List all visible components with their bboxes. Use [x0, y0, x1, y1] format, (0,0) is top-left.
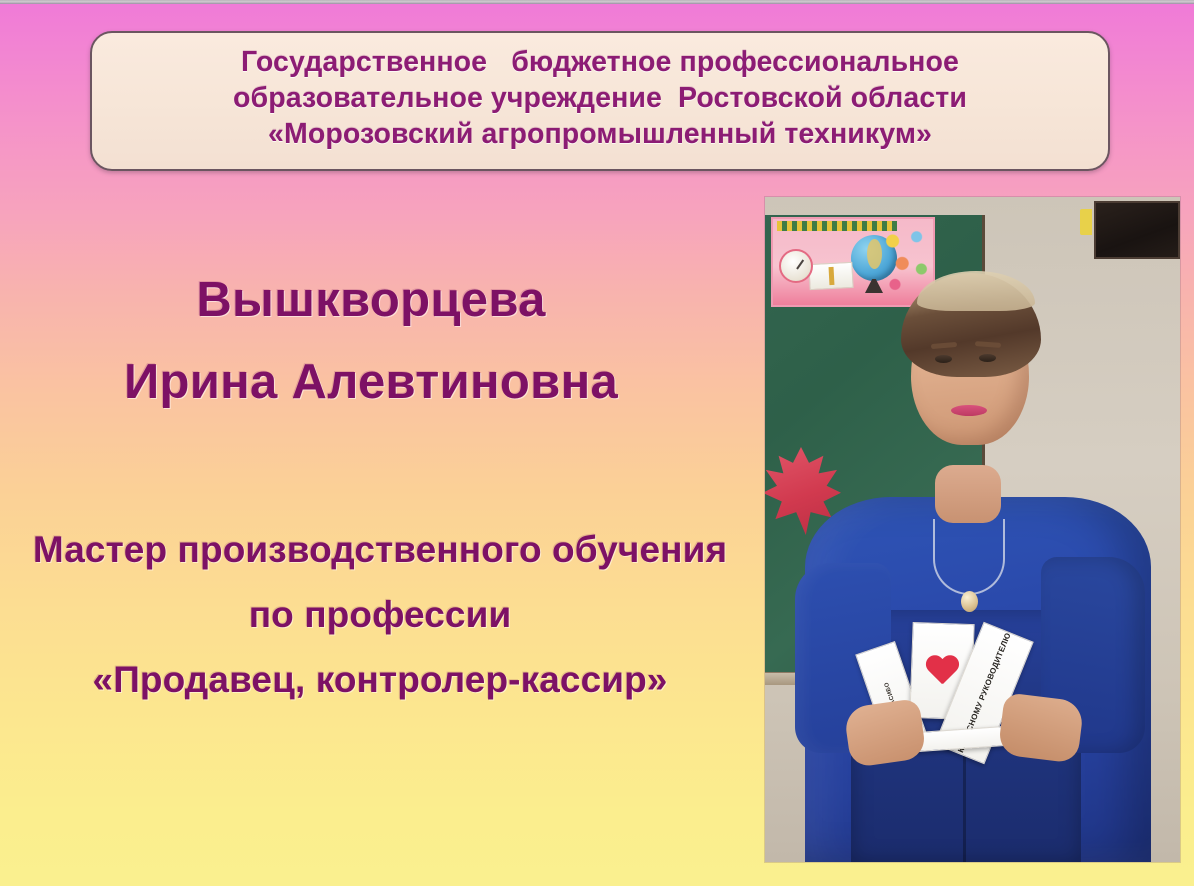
institution-title-line-2: образовательное учреждение Ростовской об…	[233, 81, 967, 117]
wall-monitor	[1094, 201, 1180, 259]
person-lips	[951, 405, 987, 416]
institution-title-line-1: Государственное бюджетное профессиональн…	[241, 45, 959, 81]
person-eye-left	[935, 355, 952, 363]
role-line-3: «Продавец, контролер-кассир»	[0, 660, 760, 699]
person-surname: Вышкворцева	[0, 276, 742, 326]
book-icon	[808, 262, 853, 290]
institution-title-box: Государственное бюджетное профессиональн…	[90, 31, 1110, 171]
yellow-wall-object	[1080, 209, 1092, 235]
necklace-pendant	[961, 591, 978, 612]
person-hand-right	[998, 692, 1085, 763]
person-given-name-patronymic: Ирина Алевтиновна	[0, 358, 742, 408]
person-neck	[935, 465, 1001, 523]
poster-ribbon	[777, 221, 897, 231]
presentation-slide: Государственное бюджетное профессиональн…	[0, 0, 1194, 886]
role-line-2: по профессии	[0, 595, 760, 634]
alarm-clock-icon	[779, 249, 813, 283]
person-role-block: Мастер производственного обучения по про…	[0, 530, 760, 700]
necklace-chain	[933, 519, 1005, 595]
globe-stand-icon	[865, 279, 883, 293]
school-poster	[771, 217, 935, 307]
person-photo: СПАСИБО КЛАССНОМУ РУКОВОДИТЕЛЮ	[765, 197, 1180, 862]
institution-title-line-3: «Морозовский агропромышленный техникум»	[268, 117, 932, 153]
role-line-1: Мастер производственного обучения	[0, 530, 760, 569]
heart-icon	[925, 656, 959, 687]
person-eye-right	[979, 354, 996, 362]
person-name-block: Вышкворцева Ирина Алевтиновна	[0, 276, 742, 408]
video-frame-edge	[0, 0, 1194, 4]
